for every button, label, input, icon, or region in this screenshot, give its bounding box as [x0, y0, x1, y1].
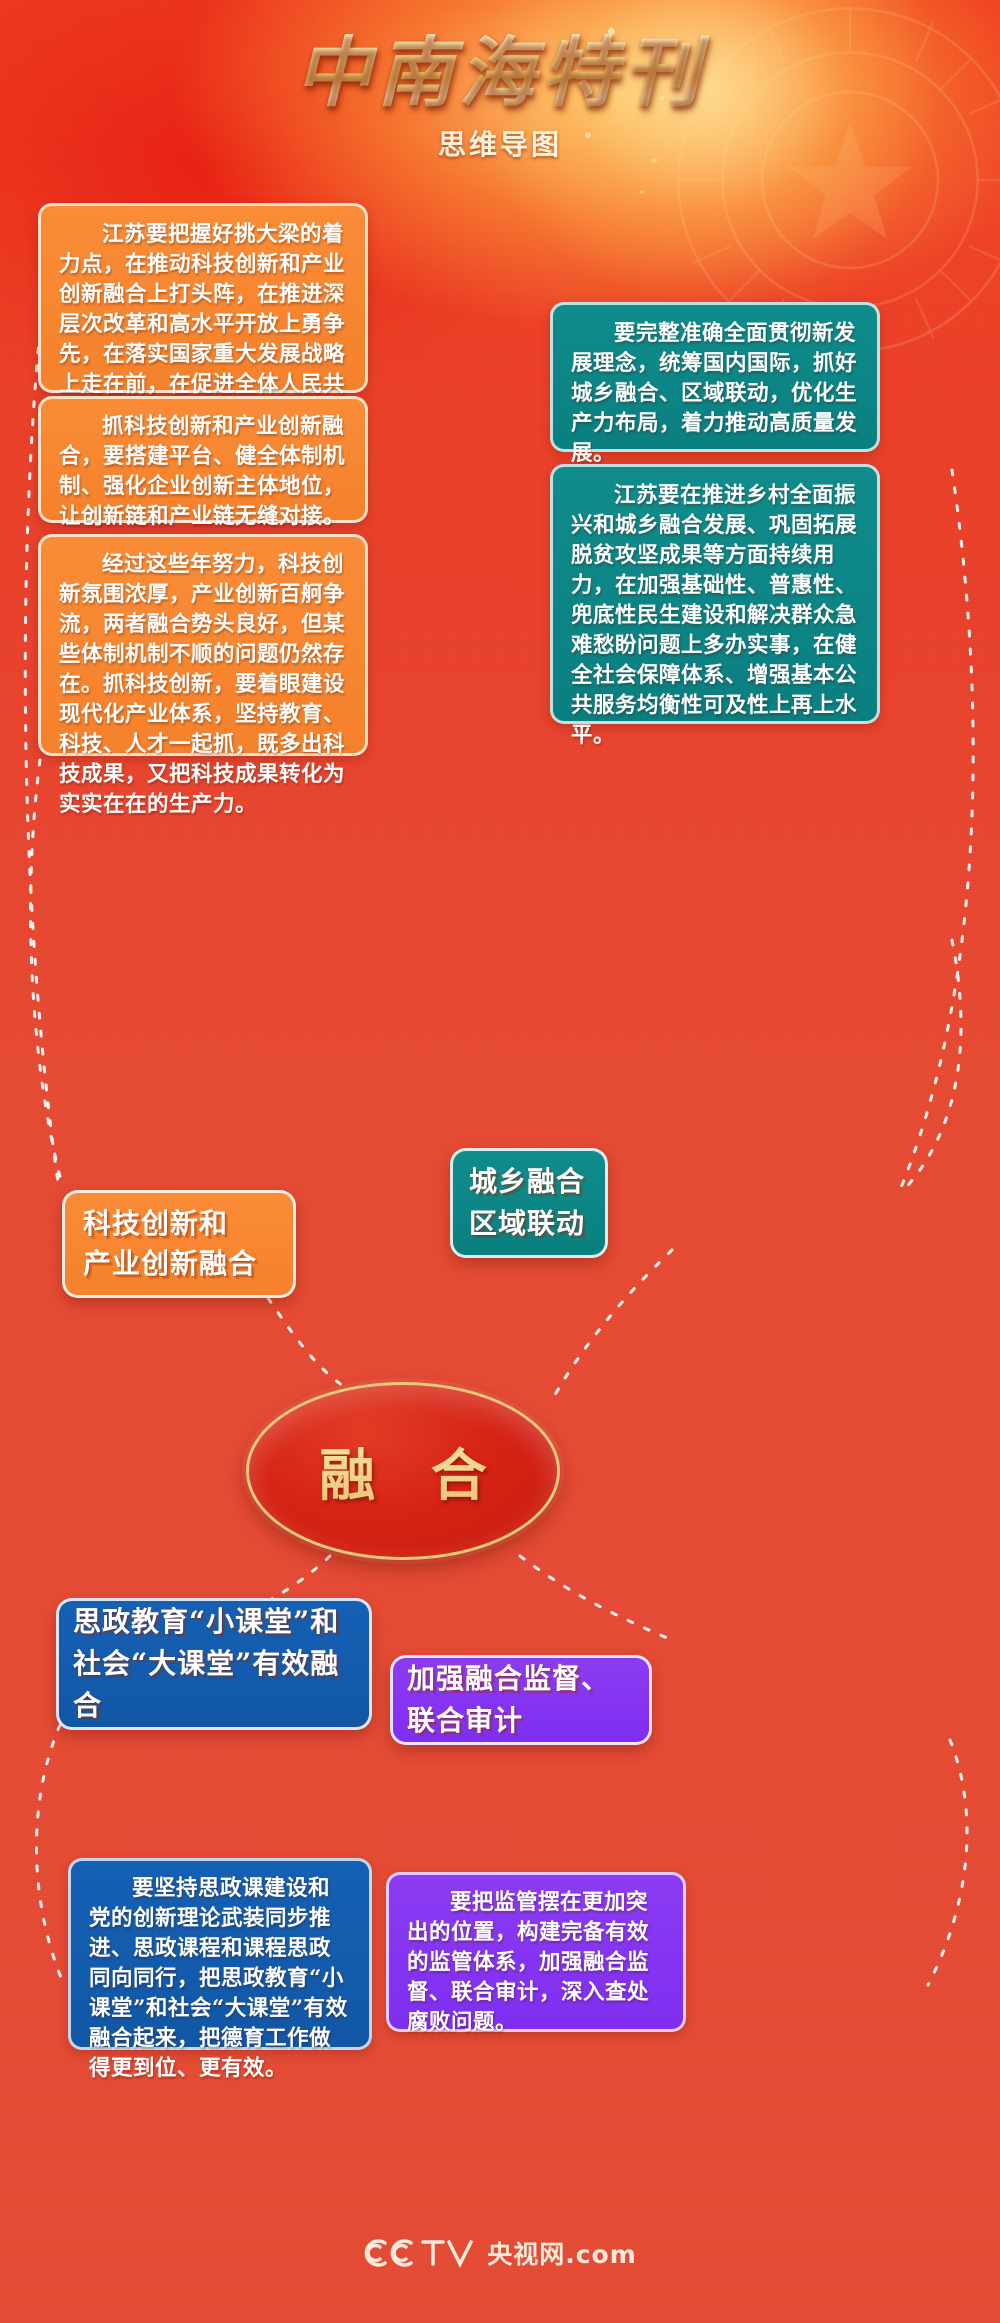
- branch-label-tech-industry[interactable]: 科技创新和 产业创新融合: [62, 1190, 296, 1298]
- note-text: 江苏要在推进乡村全面振兴和城乡融合发展、巩固拓展脱贫攻坚成果等方面持续用力，在加…: [571, 481, 859, 751]
- branch-label-text: 加强融合监督、联合审计: [407, 1658, 635, 1742]
- core-node[interactable]: 融 合: [246, 1382, 560, 1560]
- cctv-logo: 央视网.com: [363, 2233, 637, 2273]
- branch-label-text: 思政教育“小课堂”和社会“大课堂”有效融合: [73, 1601, 355, 1727]
- page-title: 中南海特刊: [0, 30, 1000, 116]
- infographic-page: 中南海特刊 思维导图 江苏要把握好挑大梁的着力点，在推动科技创新和产业创: [0, 0, 1000, 2323]
- cctv-wordmark: 央视网.com: [487, 2235, 637, 2271]
- page-subtitle: 思维导图: [0, 128, 1000, 162]
- note-card-tech-2: 抓科技创新和产业创新融合，要搭建平台、健全体制机制、强化企业创新主体地位，让创新…: [38, 396, 368, 523]
- note-text: 要坚持思政课建设和党的创新理论武装同步推进、思政课程和课程思政同向同行，把思政教…: [89, 1874, 351, 2084]
- header: 中南海特刊 思维导图: [0, 0, 1000, 200]
- note-text: 经过这些年努力，科技创新氛围浓厚，产业创新百舸争流，两者融合势头良好，但某些体制…: [59, 550, 347, 820]
- note-card-urban-2: 江苏要在推进乡村全面振兴和城乡融合发展、巩固拓展脱贫攻坚成果等方面持续用力，在加…: [550, 464, 880, 724]
- note-card-audit-1: 要把监管摆在更加突出的位置，构建完备有效的监管体系，加强融合监督、联合审计，深入…: [386, 1872, 686, 2032]
- note-card-tech-1: 江苏要把握好挑大梁的着力点，在推动科技创新和产业创新融合上打头阵，在推进深层次改…: [38, 203, 368, 393]
- core-label: 融 合: [249, 1385, 557, 1557]
- note-card-urban-1: 要完整准确全面贯彻新发展理念，统筹国内国际，抓好城乡融合、区域联动，优化生产力布…: [550, 302, 880, 452]
- cctv-logo-icon: [363, 2233, 481, 2273]
- note-text: 要完整准确全面贯彻新发展理念，统筹国内国际，抓好城乡融合、区域联动，优化生产力布…: [571, 319, 859, 469]
- branch-label-supervision-audit[interactable]: 加强融合监督、联合审计: [390, 1655, 652, 1745]
- note-card-tech-3: 经过这些年努力，科技创新氛围浓厚，产业创新百舸争流，两者融合势头良好，但某些体制…: [38, 534, 368, 756]
- footer: 央视网.com: [0, 2218, 1000, 2288]
- note-text: 抓科技创新和产业创新融合，要搭建平台、健全体制机制、强化企业创新主体地位，让创新…: [59, 412, 347, 532]
- branch-label-urban-rural[interactable]: 城乡融合 区域联动: [450, 1148, 608, 1258]
- branch-label-text: 科技创新和 产业创新融合: [83, 1204, 275, 1284]
- branch-label-text: 城乡融合 区域联动: [469, 1161, 589, 1245]
- branch-label-ideological-education[interactable]: 思政教育“小课堂”和社会“大课堂”有效融合: [56, 1598, 372, 1730]
- note-card-education-1: 要坚持思政课建设和党的创新理论武装同步推进、思政课程和课程思政同向同行，把思政教…: [68, 1858, 372, 2050]
- note-text: 要把监管摆在更加突出的位置，构建完备有效的监管体系，加强融合监督、联合审计，深入…: [407, 1888, 665, 2038]
